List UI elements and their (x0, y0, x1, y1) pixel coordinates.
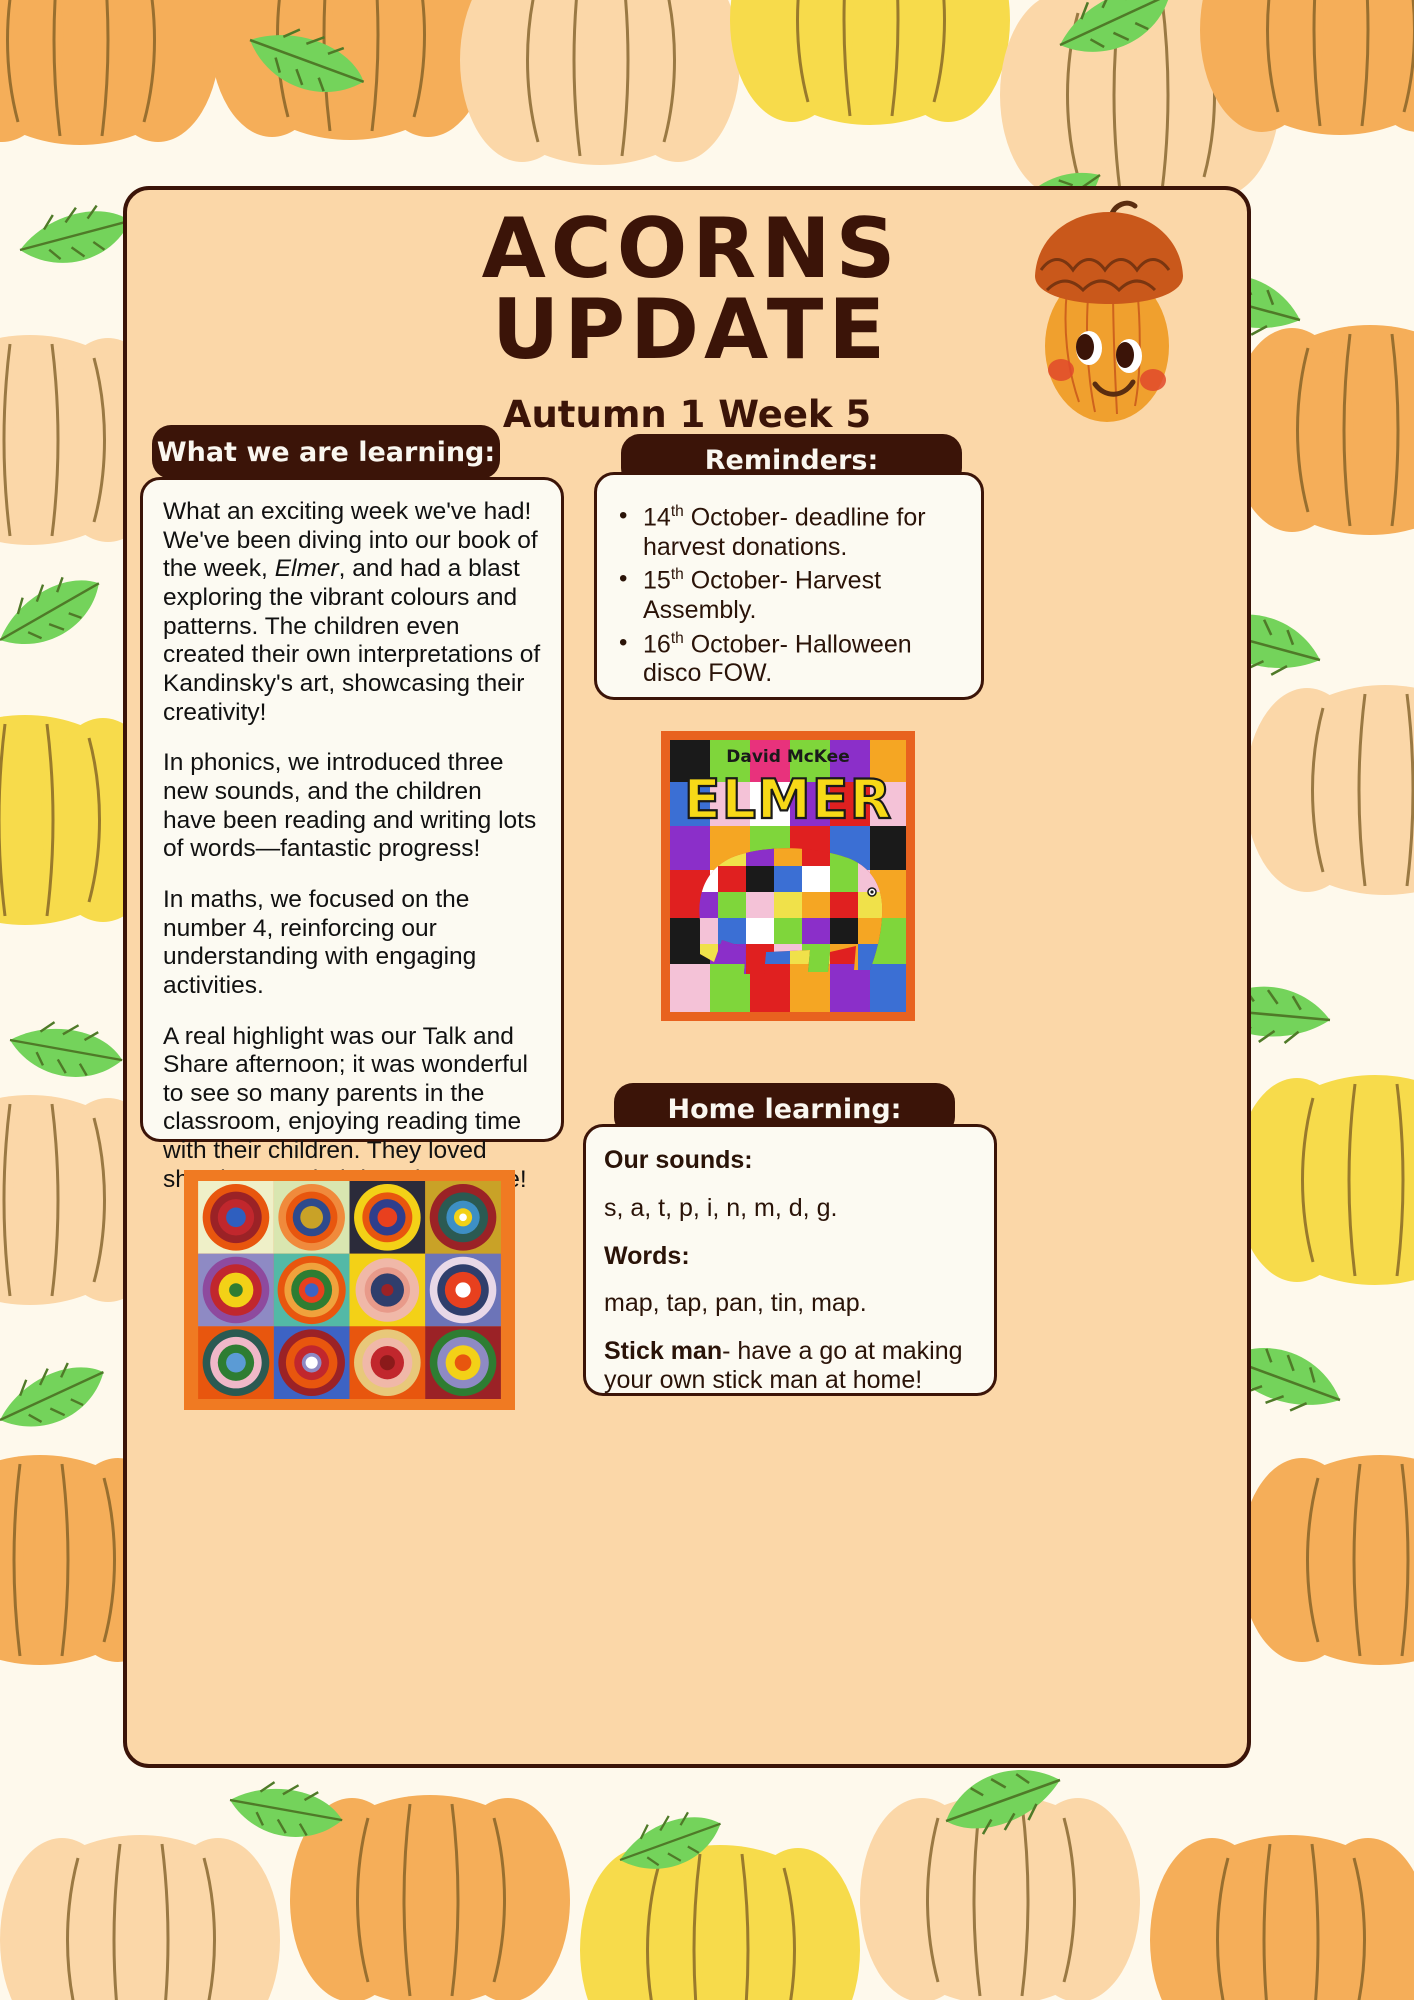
page-title-line2: UPDATE (123, 289, 1251, 370)
reminder-item: 16th October- Halloween disco FOW. (609, 630, 963, 689)
sounds-label: Our sounds: (604, 1146, 753, 1174)
book-title-italic: Elmer (275, 555, 339, 582)
reminder-ordinal: th (671, 630, 684, 647)
learning-section-header: What we are learning: (152, 425, 500, 479)
home-learning-panel: Our sounds: s, a, t, p, i, n, m, d, g. W… (583, 1124, 997, 1396)
reminder-item: 14th October- deadline for harvest donat… (609, 503, 963, 562)
sounds-value-row: s, a, t, p, i, n, m, d, g. (604, 1194, 978, 1223)
poster-title-block: ACORNS UPDATE Autumn 1 Week 5 (123, 208, 1251, 436)
reminder-day: 15 (643, 567, 671, 595)
reminder-item: 15th October- Harvest Assembly. (609, 566, 963, 625)
learning-paragraph-4: A real highlight was our Talk and Share … (163, 1023, 541, 1195)
elmer-book-cover: David McKee ELMER (661, 731, 915, 1021)
learning-heading-label: What we are learning: (157, 437, 495, 468)
book-title-text: ELMER (684, 768, 893, 831)
book-author-text: David McKee (726, 747, 850, 767)
words-value-row: map, tap, pan, tin, map. (604, 1289, 978, 1318)
learning-paragraph-3: In maths, we focused on the number 4, re… (163, 886, 541, 1001)
learning-panel: What an exciting week we've had! We've b… (140, 477, 564, 1142)
reminders-panel: 14th October- deadline for harvest donat… (594, 472, 984, 700)
words-label-row: Words: (604, 1242, 978, 1271)
home-learning-body: Our sounds: s, a, t, p, i, n, m, d, g. W… (586, 1127, 994, 1395)
learning-body: What an exciting week we've had! We've b… (143, 480, 561, 1194)
elmer-cover-art: David McKee ELMER (670, 740, 906, 1012)
kandinsky-artwork-frame (184, 1170, 515, 1410)
learning-paragraph-2: In phonics, we introduced three new soun… (163, 749, 541, 864)
reminder-text: October- Halloween disco FOW. (643, 630, 912, 688)
sounds-label-row: Our sounds: (604, 1146, 978, 1175)
words-label: Words: (604, 1242, 690, 1270)
reminder-ordinal: th (671, 566, 684, 583)
reminder-day: 16 (643, 630, 671, 658)
reminder-text: October- deadline for harvest donations. (643, 503, 926, 561)
stick-man-label: Stick man (604, 1337, 722, 1365)
reminder-ordinal: th (671, 503, 684, 520)
kandinsky-circles-artwork (195, 1181, 504, 1399)
reminders-list: 14th October- deadline for harvest donat… (597, 475, 981, 689)
learning-paragraph-1: What an exciting week we've had! We've b… (163, 498, 541, 727)
stick-man-row: Stick man- have a go at making your own … (604, 1337, 978, 1395)
page-title-line1: ACORNS (123, 208, 1251, 289)
reminder-day: 14 (643, 503, 671, 531)
home-learning-heading-label: Home learning: (668, 1094, 902, 1125)
